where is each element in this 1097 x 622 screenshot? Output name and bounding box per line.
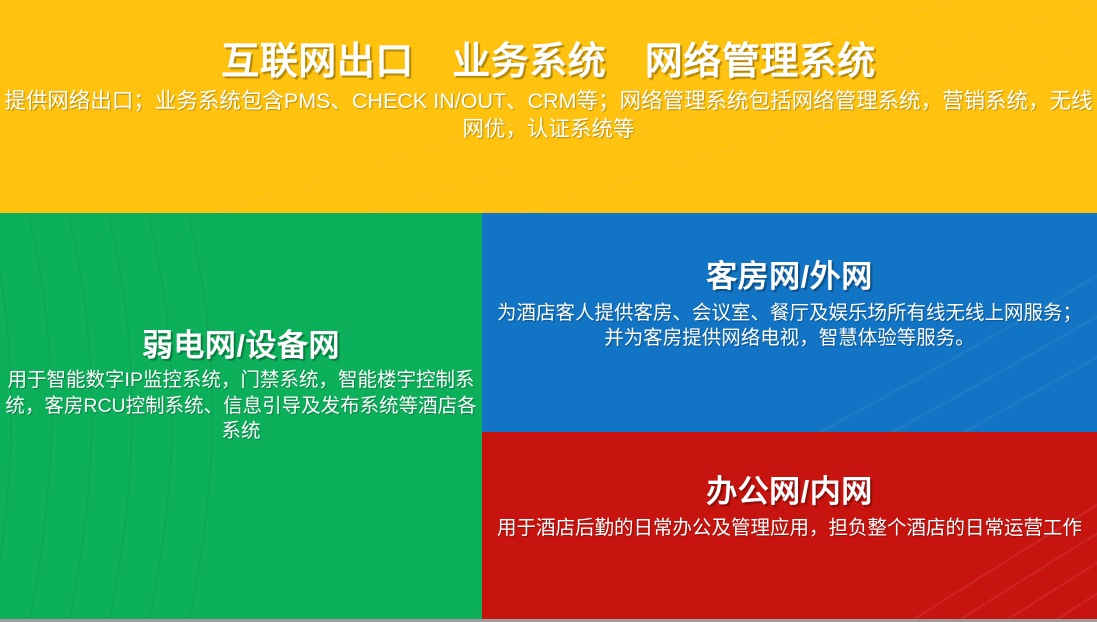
panel-guest-room-network[interactable]: 客房网/外网 为酒店客人提供客房、会议室、餐厅及娱乐场所有线无线上网服务；并为客… <box>482 213 1097 432</box>
panel-internet-heading: 互联网出口 业务系统 网络管理系统 <box>221 42 876 82</box>
panel-office-network-heading: 办公网/内网 <box>706 476 873 509</box>
panel-weak-current-heading: 弱电网/设备网 <box>142 330 340 363</box>
slide-canvas: 互联网出口 业务系统 网络管理系统 提供网络出口；业务系统包含PMS、CHECK… <box>0 0 1097 622</box>
panel-internet-body: 提供网络出口；业务系统包含PMS、CHECK IN/OUT、CRM等；网络管理系… <box>4 88 1094 144</box>
panel-office-network-body: 用于酒店后勤的日常办公及管理应用，担负整个酒店的日常运营工作 <box>490 516 1090 541</box>
panel-guest-network-body: 为酒店客人提供客房、会议室、餐厅及娱乐场所有线无线上网服务；并为客房提供网络电视… <box>490 301 1090 352</box>
panel-office-network[interactable]: 办公网/内网 用于酒店后勤的日常办公及管理应用，担负整个酒店的日常运营工作 <box>482 432 1097 619</box>
panel-weak-current-network[interactable]: 弱电网/设备网 用于智能数字IP监控系统，门禁系统，智能楼宇控制系统，客房RCU… <box>0 213 482 619</box>
panel-weak-current-body: 用于智能数字IP监控系统，门禁系统，智能楼宇控制系统，客房RCU控制系统、信息引… <box>2 368 480 444</box>
panel-guest-network-heading: 客房网/外网 <box>706 261 873 294</box>
panel-internet-exit[interactable]: 互联网出口 业务系统 网络管理系统 提供网络出口；业务系统包含PMS、CHECK… <box>0 0 1097 213</box>
